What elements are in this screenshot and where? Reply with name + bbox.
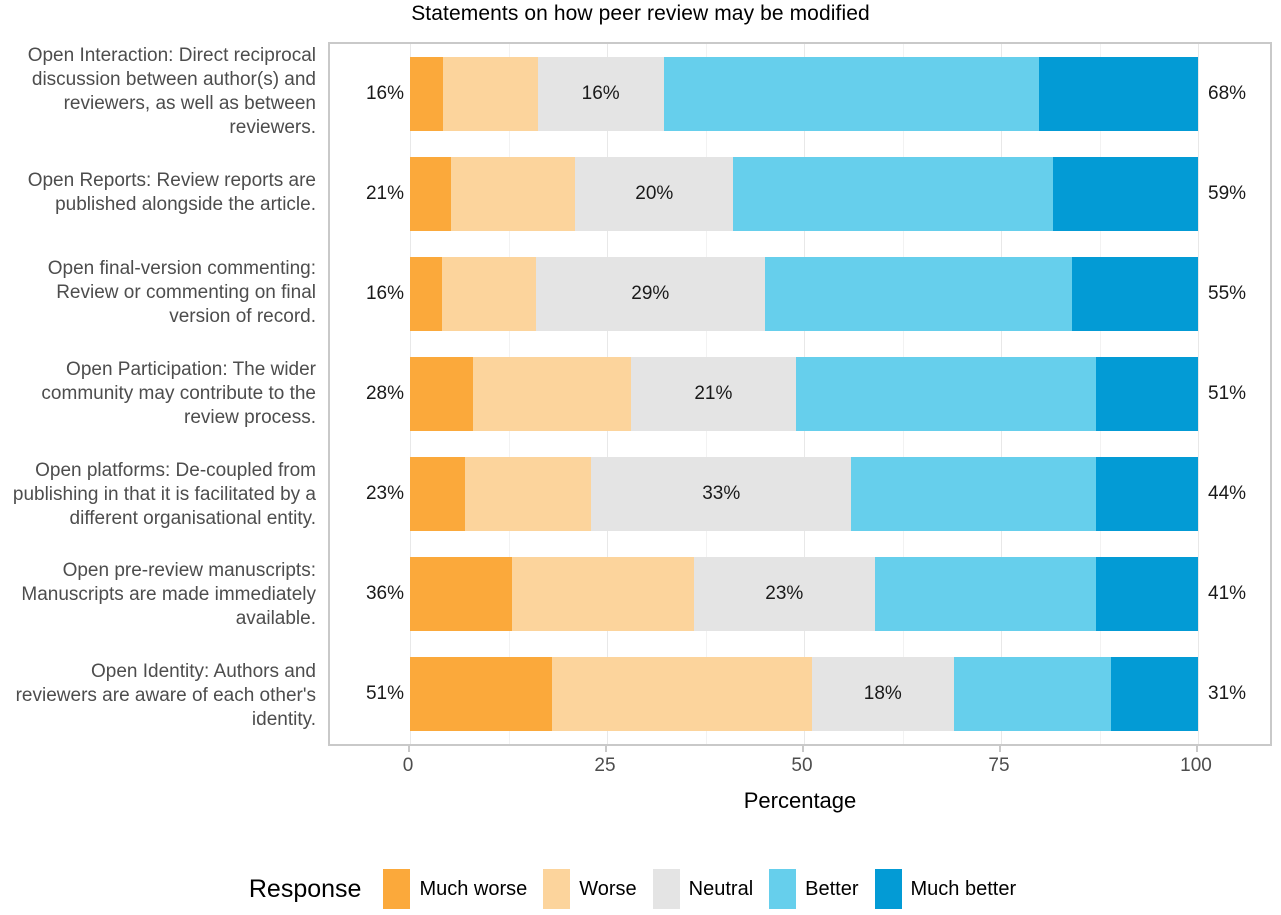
bar-segment-much-worse[interactable] [410, 657, 552, 731]
legend-item-better[interactable]: Better [769, 869, 858, 909]
stacked-bar[interactable]: 20%21%59% [410, 157, 1198, 231]
bar-segment-worse[interactable] [512, 557, 693, 631]
bar-segment-much-better[interactable] [1053, 157, 1198, 231]
bar-segment-better[interactable] [954, 657, 1112, 731]
bar-segment-much-worse[interactable] [410, 57, 443, 131]
bar-segment-much-worse[interactable] [410, 457, 465, 531]
legend-items: Much worseWorseNeutralBetterMuch better [383, 869, 1032, 909]
legend-item-worse[interactable]: Worse [543, 869, 636, 909]
bar-segment-much-worse[interactable] [410, 257, 442, 331]
legend: Response Much worseWorseNeutralBetterMuc… [0, 866, 1281, 912]
bar-segment-worse[interactable] [442, 257, 537, 331]
legend-swatch [383, 869, 410, 909]
x-axis-tick [408, 746, 410, 752]
y-axis-label-text: Open Identity: Authors and reviewers are… [6, 660, 322, 732]
y-axis-label: Open Identity: Authors and reviewers are… [0, 645, 322, 746]
bar-segment-neutral[interactable]: 33% [591, 457, 851, 531]
y-axis-label-text: Open final-version commenting: Review or… [6, 257, 322, 329]
neutral-percent-label: 29% [631, 283, 669, 305]
neutral-percent-label: 20% [635, 183, 673, 205]
bar-row[interactable]: 20%21%59% [330, 144, 1270, 244]
bar-segment-much-better[interactable] [1039, 57, 1198, 131]
y-axis-label: Open platforms: De-coupled from publishi… [0, 444, 322, 545]
legend-label: Worse [579, 878, 636, 901]
stacked-bar[interactable]: 29%16%55% [410, 257, 1198, 331]
plot-area: 16%16%68%20%21%59%29%16%55%21%28%51%33%2… [330, 44, 1270, 744]
y-axis-label-text: Open Reports: Review reports are publish… [6, 169, 322, 217]
legend-label: Much worse [419, 878, 527, 901]
neutral-percent-label: 33% [702, 483, 740, 505]
y-axis-label-text: Open platforms: De-coupled from publishi… [6, 459, 322, 531]
legend-swatch [875, 869, 902, 909]
bar-segment-better[interactable] [796, 357, 1095, 431]
y-axis-label: Open Participation: The wider community … [0, 344, 322, 445]
x-axis-tick [1196, 746, 1198, 752]
bar-segment-better[interactable] [765, 257, 1072, 331]
x-axis-tick-label: 25 [594, 755, 615, 777]
legend-swatch [653, 869, 680, 909]
bar-segment-much-worse[interactable] [410, 357, 473, 431]
bar-segment-worse[interactable] [552, 657, 812, 731]
neutral-percent-label: 16% [582, 83, 620, 105]
legend-label: Neutral [689, 878, 753, 901]
x-axis: 0255075100 [328, 746, 1272, 786]
bar-segment-neutral[interactable]: 20% [575, 157, 733, 231]
stacked-bar[interactable]: 33%23%44% [410, 457, 1198, 531]
x-axis-tick-label: 50 [791, 755, 812, 777]
bar-row[interactable]: 16%16%68% [330, 44, 1270, 144]
bar-segment-neutral[interactable]: 29% [536, 257, 765, 331]
neutral-percent-label: 18% [864, 683, 902, 705]
bar-row[interactable]: 21%28%51% [330, 344, 1270, 444]
bar-segment-worse[interactable] [465, 457, 591, 531]
y-axis-label-text: Open pre-review manuscripts: Manuscripts… [6, 559, 322, 631]
bar-segment-much-better[interactable] [1096, 357, 1198, 431]
bar-segment-better[interactable] [875, 557, 1096, 631]
bar-rows: 16%16%68%20%21%59%29%16%55%21%28%51%33%2… [330, 44, 1270, 744]
negative-total-label: 21% [366, 183, 404, 205]
bar-row[interactable]: 29%16%55% [330, 244, 1270, 344]
negative-total-label: 51% [366, 683, 404, 705]
bar-segment-much-better[interactable] [1096, 457, 1198, 531]
stacked-bar[interactable]: 18%51%31% [410, 657, 1198, 731]
y-axis-labels: Open Interaction: Direct reciprocal disc… [0, 42, 322, 746]
legend-swatch [769, 869, 796, 909]
y-axis-label: Open Reports: Review reports are publish… [0, 143, 322, 244]
bar-segment-better[interactable] [733, 157, 1053, 231]
bar-segment-much-better[interactable] [1072, 257, 1198, 331]
stacked-bar[interactable]: 21%28%51% [410, 357, 1198, 431]
stacked-bar[interactable]: 16%16%68% [410, 57, 1198, 131]
bar-segment-worse[interactable] [443, 57, 538, 131]
neutral-percent-label: 21% [694, 383, 732, 405]
bar-segment-much-worse[interactable] [410, 557, 512, 631]
legend-item-much-worse[interactable]: Much worse [383, 869, 527, 909]
legend-label: Better [805, 878, 858, 901]
bar-row[interactable]: 23%36%41% [330, 544, 1270, 644]
bar-row[interactable]: 33%23%44% [330, 444, 1270, 544]
bar-segment-better[interactable] [664, 57, 1039, 131]
positive-total-label: 51% [1208, 383, 1246, 405]
neutral-percent-label: 23% [765, 583, 803, 605]
x-axis-tick [605, 746, 607, 752]
y-axis-label-text: Open Participation: The wider community … [6, 358, 322, 430]
bar-segment-neutral[interactable]: 21% [631, 357, 796, 431]
x-axis-tick-label: 75 [988, 755, 1009, 777]
bar-segment-neutral[interactable]: 23% [694, 557, 875, 631]
bar-segment-better[interactable] [851, 457, 1095, 531]
positive-total-label: 68% [1208, 83, 1246, 105]
legend-item-much-better[interactable]: Much better [875, 869, 1017, 909]
y-axis-label: Open pre-review manuscripts: Manuscripts… [0, 545, 322, 646]
x-axis-tick-label: 100 [1180, 755, 1212, 777]
bar-segment-worse[interactable] [451, 157, 576, 231]
negative-total-label: 16% [366, 83, 404, 105]
positive-total-label: 59% [1208, 183, 1246, 205]
chart-root: Statements on how peer review may be mod… [0, 0, 1281, 915]
legend-item-neutral[interactable]: Neutral [653, 869, 753, 909]
negative-total-label: 28% [366, 383, 404, 405]
y-axis-label-text: Open Interaction: Direct reciprocal disc… [6, 44, 322, 140]
x-axis-tick-label: 0 [403, 755, 414, 777]
x-axis-tick [999, 746, 1001, 752]
positive-total-label: 31% [1208, 683, 1246, 705]
positive-total-label: 44% [1208, 483, 1246, 505]
bar-segment-worse[interactable] [473, 357, 631, 431]
y-axis-label: Open final-version commenting: Review or… [0, 243, 322, 344]
bar-row[interactable]: 18%51%31% [330, 644, 1270, 744]
bar-segment-neutral[interactable]: 16% [538, 57, 664, 131]
legend-label: Much better [911, 878, 1017, 901]
positive-total-label: 55% [1208, 283, 1246, 305]
negative-total-label: 36% [366, 583, 404, 605]
stacked-bar[interactable]: 23%36%41% [410, 557, 1198, 631]
bar-segment-neutral[interactable]: 18% [812, 657, 954, 731]
negative-total-label: 23% [366, 483, 404, 505]
negative-total-label: 16% [366, 283, 404, 305]
legend-title: Response [249, 875, 362, 904]
x-axis-tick [802, 746, 804, 752]
plot-panel: 16%16%68%20%21%59%29%16%55%21%28%51%33%2… [328, 42, 1272, 746]
bar-segment-much-worse[interactable] [410, 157, 451, 231]
legend-swatch [543, 869, 570, 909]
bar-segment-much-better[interactable] [1096, 557, 1198, 631]
bar-segment-much-better[interactable] [1111, 657, 1198, 731]
positive-total-label: 41% [1208, 583, 1246, 605]
y-axis-label: Open Interaction: Direct reciprocal disc… [0, 42, 322, 143]
chart-title: Statements on how peer review may be mod… [0, 2, 1281, 26]
x-axis-title: Percentage [328, 788, 1272, 814]
